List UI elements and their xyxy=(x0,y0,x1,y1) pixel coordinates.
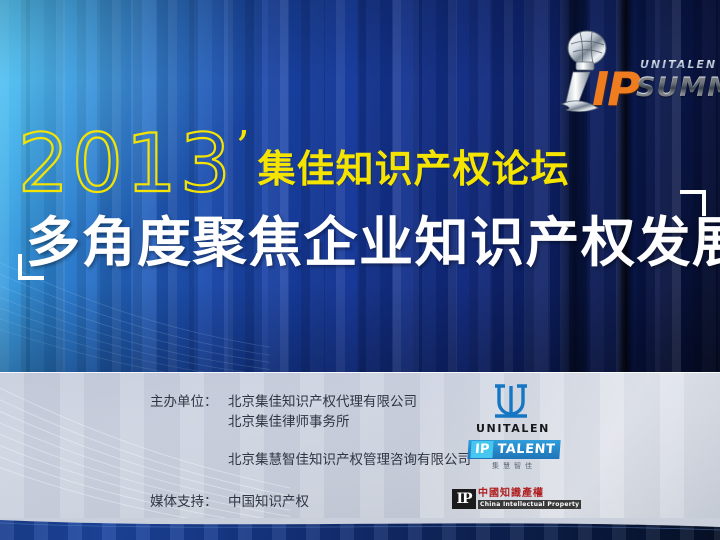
apostrophe-mark: ’ xyxy=(236,126,250,170)
ip-talent-ip-text: IP xyxy=(470,441,494,458)
conference-poster: IP UNITALEN SUMMIT 2013 ’ 集佳知识产权论坛 多角度聚焦… xyxy=(0,0,720,540)
media-partner-logo: IP 中國知識產權 China Intellectual Property xyxy=(452,488,581,509)
corner-bracket-bottom-left xyxy=(18,254,44,280)
ip-talent-bar: IP TALENT xyxy=(467,440,560,459)
media-logo-text-group: 中國知識產權 China Intellectual Property xyxy=(478,488,581,509)
summit-logo-text: SUMMIT xyxy=(636,72,720,103)
forum-name-label: 集佳知识产权论坛 xyxy=(258,138,570,193)
media-support-label: 媒体支持： xyxy=(150,492,218,512)
ip-summit-logo: IP UNITALEN SUMMIT xyxy=(540,22,710,122)
ip-talent-talent-text: TALENT xyxy=(497,442,556,457)
footer-wave-decoration xyxy=(0,518,720,540)
title-line-1: 2013 ’ 集佳知识产权论坛 xyxy=(18,118,570,196)
media-logo-name-cn: 中國知識產權 xyxy=(478,488,581,499)
year-label: 2013 xyxy=(18,132,234,196)
corner-bracket-top-right xyxy=(680,190,706,216)
unitalen-logo: UNITALEN xyxy=(476,380,546,435)
unitalen-logo-text: UNITALEN xyxy=(640,58,717,71)
media-support-name: 中国知识产权 xyxy=(228,492,309,512)
unitalen-wordmark: UNITALEN xyxy=(476,422,546,435)
media-logo-name-en: China Intellectual Property xyxy=(478,500,581,509)
host-organization-2: 北京集佳律师事务所 xyxy=(228,412,350,432)
footer-strip xyxy=(0,518,720,540)
title-block: 2013 ’ 集佳知识产权论坛 多角度聚焦企业知识产权发展 xyxy=(0,118,720,288)
title-line-2: 多角度聚焦企业知识产权发展 xyxy=(26,198,706,277)
ip-talent-logo: IP TALENT 集慧智佳 xyxy=(468,440,560,471)
media-ip-mark: IP xyxy=(452,489,476,509)
ip-logo-text: IP xyxy=(592,62,639,116)
coorganizer-name: 北京集慧智佳知识产权管理咨询有限公司 xyxy=(228,450,471,470)
host-label: 主办单位： xyxy=(150,392,218,412)
unitalen-ut-monogram-icon xyxy=(489,380,533,420)
host-organization-1: 北京集佳知识产权代理有限公司 xyxy=(228,392,417,412)
ip-talent-subtitle: 集慧智佳 xyxy=(468,461,560,471)
